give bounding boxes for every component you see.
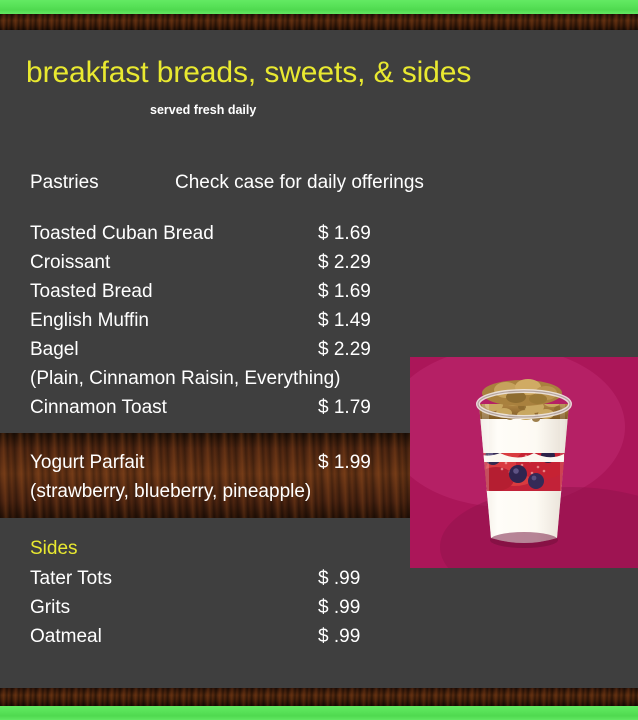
item-price: $ 2.29: [318, 339, 371, 361]
item-name: Bagel: [30, 339, 79, 361]
item-note: (strawberry, blueberry, pineapple): [30, 481, 311, 503]
bottom-green-accent-bar: [0, 706, 638, 720]
item-name: Oatmeal: [30, 626, 102, 648]
item-name: Toasted Bread: [30, 281, 153, 303]
item-name: Tater Tots: [30, 568, 112, 590]
bottom-wood-strip: [0, 688, 638, 706]
menu-row-oatmeal: Oatmeal $ .99: [0, 626, 638, 655]
item-price: $ 1.79: [318, 397, 371, 419]
item-note: (Plain, Cinnamon Raisin, Everything): [30, 368, 340, 390]
item-name: Yogurt Parfait: [30, 452, 144, 474]
item-price: $ 1.99: [318, 452, 371, 474]
item-price: $ .99: [318, 597, 360, 619]
item-price: $ 1.69: [318, 281, 371, 303]
item-name: Cinnamon Toast: [30, 397, 167, 419]
item-price: $ 1.69: [318, 223, 371, 245]
menu-subtitle: served fresh daily: [150, 103, 256, 117]
item-name: Toasted Cuban Bread: [30, 223, 214, 245]
breakfast-menu-board: breakfast breads, sweets, & sides served…: [0, 0, 638, 720]
pastries-heading-note: Check case for daily offerings: [175, 172, 424, 194]
menu-row-english-muffin: English Muffin $ 1.49: [0, 310, 638, 339]
yogurt-parfait-photo: [410, 357, 638, 568]
item-name: Croissant: [30, 252, 110, 274]
sides-heading: Sides: [30, 538, 78, 560]
item-name: Grits: [30, 597, 70, 619]
menu-row-croissant: Croissant $ 2.29: [0, 252, 638, 281]
top-wood-strip: [0, 14, 638, 30]
item-price: $ .99: [318, 568, 360, 590]
pastries-heading: Pastries: [30, 172, 99, 194]
top-green-accent-bar: [0, 0, 638, 14]
menu-row-tater-tots: Tater Tots $ .99: [0, 568, 638, 597]
menu-row-grits: Grits $ .99: [0, 597, 638, 626]
item-price: $ 1.49: [318, 310, 371, 332]
menu-row-toasted-cuban-bread: Toasted Cuban Bread $ 1.69: [0, 223, 638, 252]
menu-title: breakfast breads, sweets, & sides: [26, 56, 471, 90]
item-price: $ 2.29: [318, 252, 371, 274]
item-name: English Muffin: [30, 310, 149, 332]
menu-row-toasted-bread: Toasted Bread $ 1.69: [0, 281, 638, 310]
item-price: $ .99: [318, 626, 360, 648]
